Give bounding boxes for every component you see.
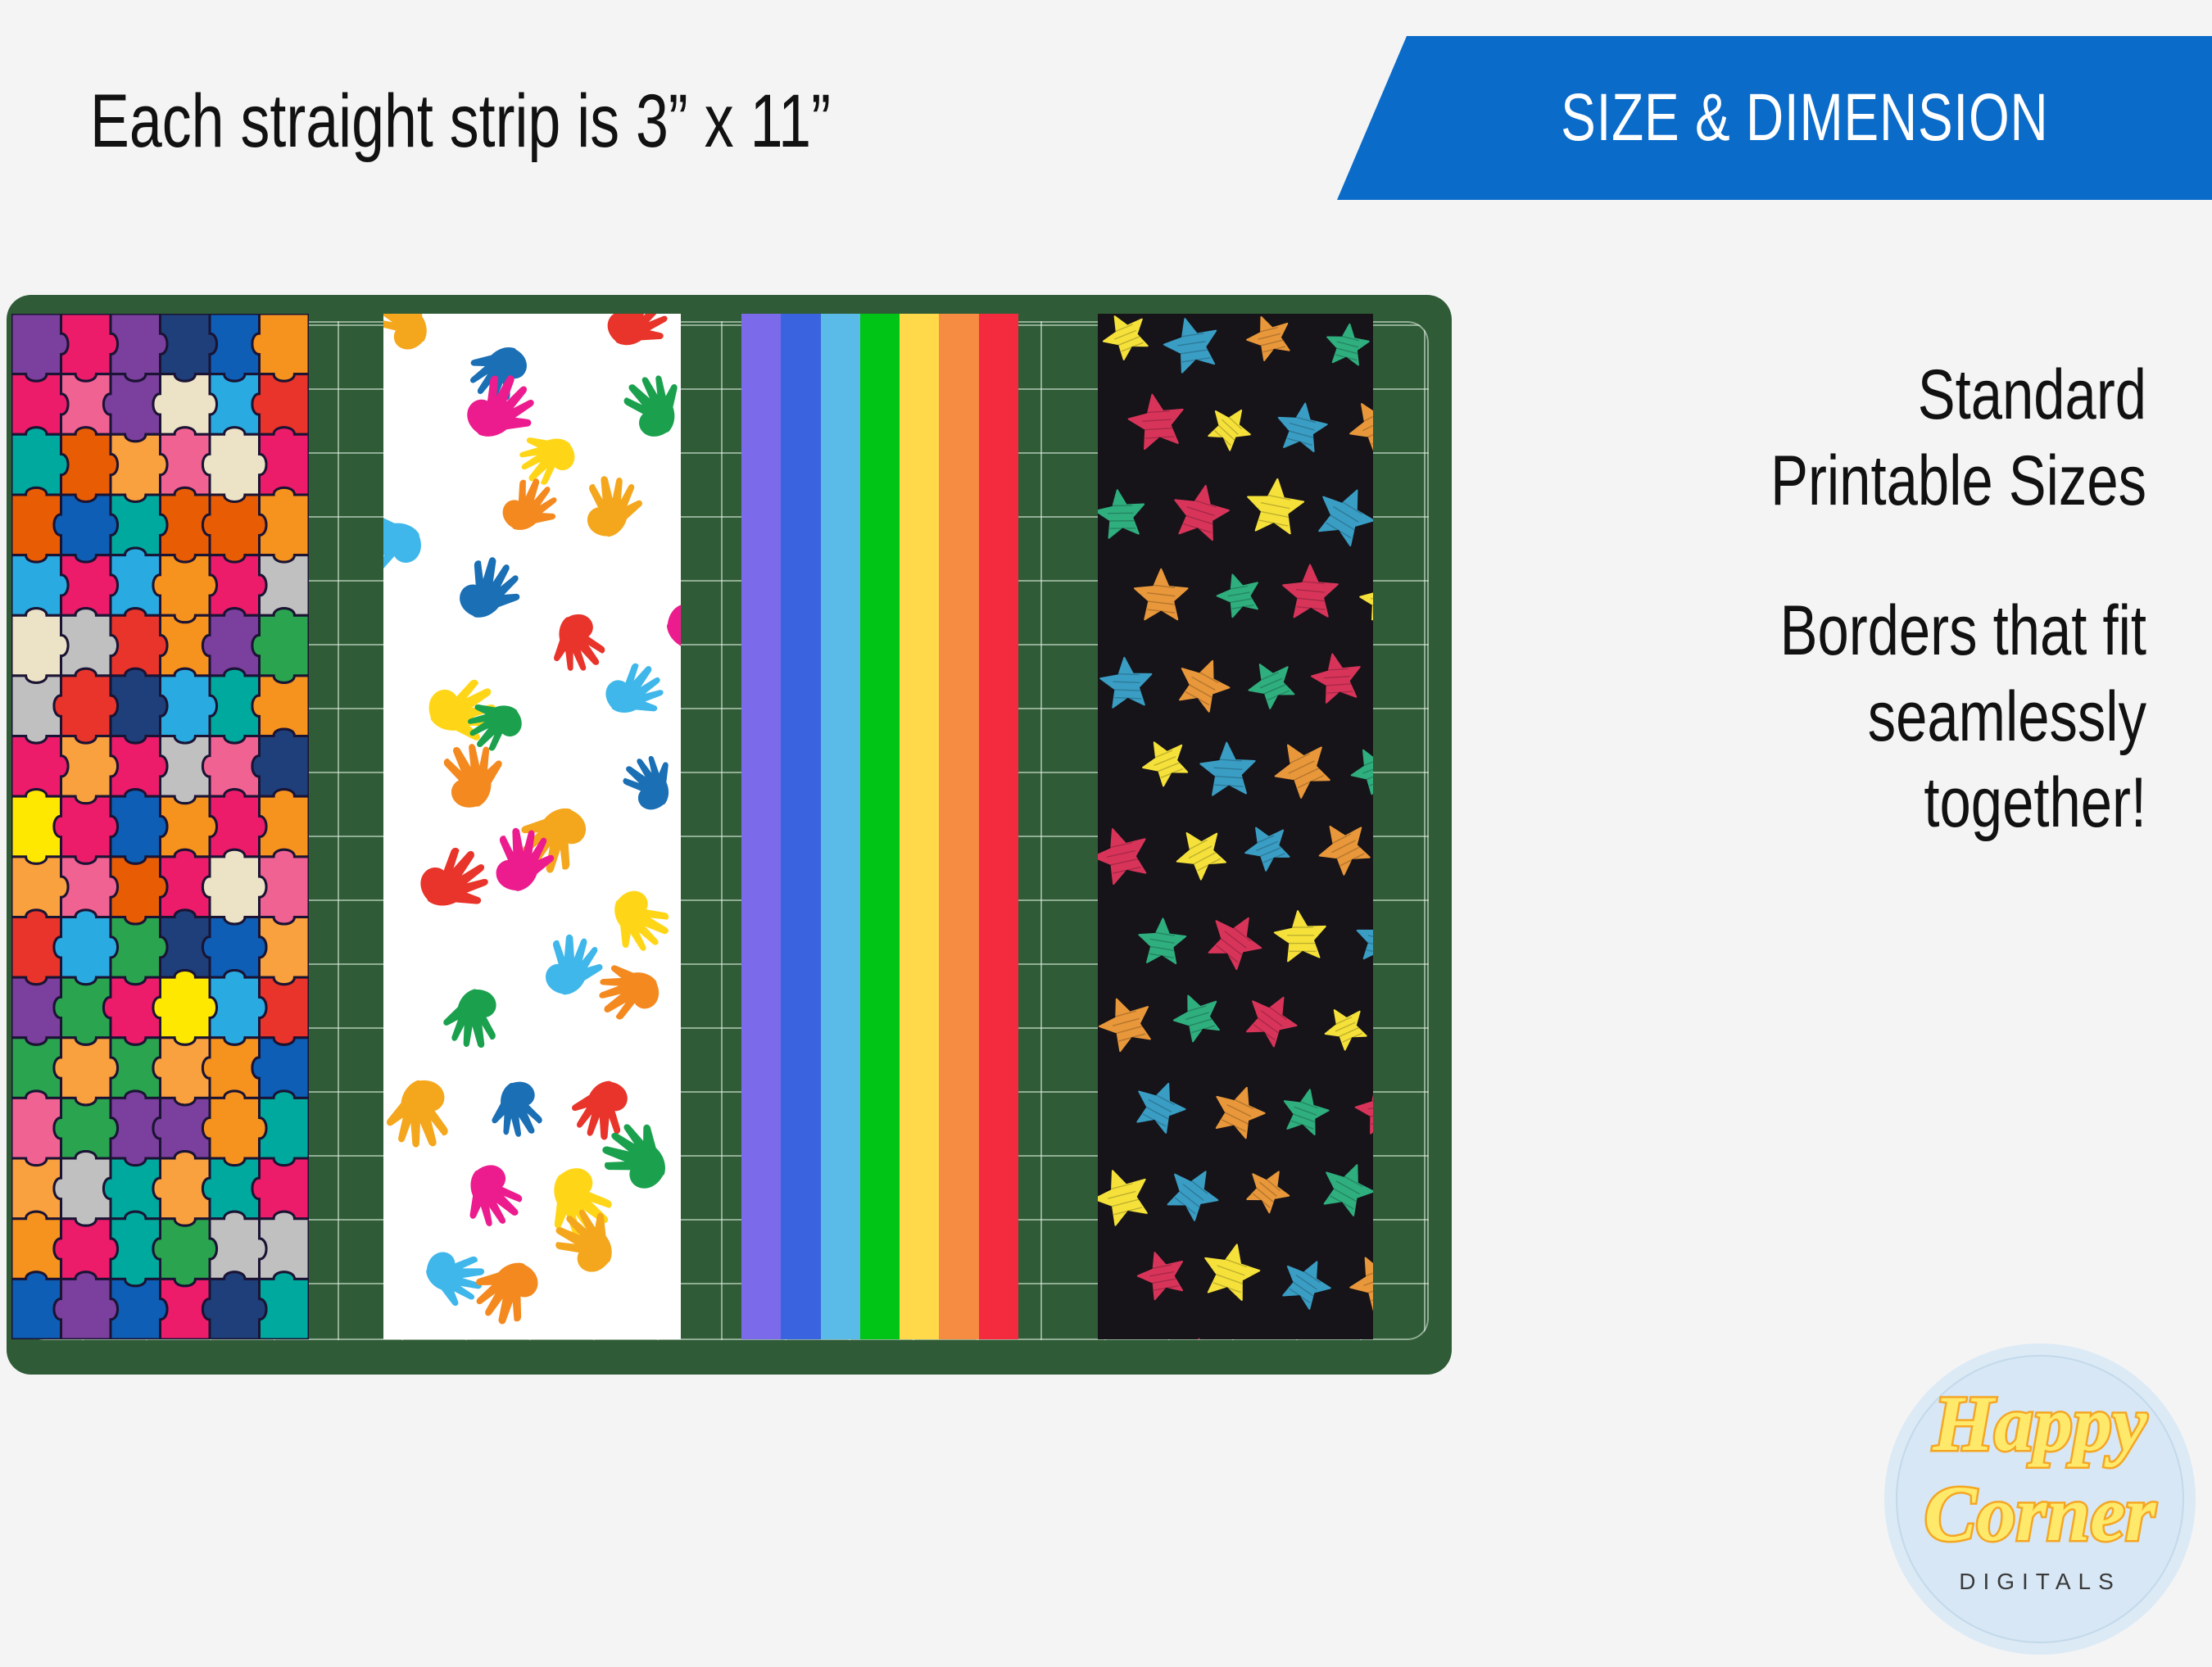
puzzle-piece xyxy=(153,1219,217,1286)
puzzle-piece xyxy=(111,434,167,501)
puzzle-piece xyxy=(252,729,309,796)
rainbow-band xyxy=(741,314,781,1339)
puzzle-piece xyxy=(202,1091,266,1166)
puzzle-piece xyxy=(61,609,118,676)
puzzle-piece xyxy=(111,609,167,676)
handprint-pattern xyxy=(383,314,681,1339)
puzzle-piece xyxy=(103,1158,160,1219)
puzzle-piece xyxy=(61,736,118,804)
puzzle-piece xyxy=(111,1279,167,1339)
puzzle-piece xyxy=(11,374,68,435)
puzzle-piece xyxy=(210,555,266,616)
puzzle-piece xyxy=(260,428,310,495)
puzzle-piece xyxy=(11,428,68,495)
puzzle-piece xyxy=(252,314,309,381)
puzzle-piece xyxy=(54,796,118,863)
puzzle-piece-strip[interactable] xyxy=(11,314,309,1339)
rainbow-band xyxy=(781,314,820,1339)
puzzle-piece xyxy=(161,314,217,381)
handprint-strip[interactable] xyxy=(383,314,681,1339)
puzzle-piece xyxy=(202,428,266,502)
puzzle-piece xyxy=(11,736,68,797)
copy-line-1: Standard xyxy=(1583,352,2146,438)
puzzle-piece xyxy=(260,917,310,984)
handprint xyxy=(451,1157,533,1239)
puzzle-piece xyxy=(54,910,118,985)
handprint xyxy=(480,1075,552,1148)
puzzle-piece xyxy=(54,1272,118,1339)
puzzle-piece xyxy=(161,668,217,743)
puzzle-piece xyxy=(252,1158,309,1219)
puzzle-piece xyxy=(260,790,310,857)
handprint xyxy=(601,314,678,360)
puzzle-piece xyxy=(260,1212,310,1279)
handprint xyxy=(456,552,526,624)
puzzle-piece xyxy=(260,849,310,924)
rainbow-band xyxy=(821,314,860,1339)
handprint xyxy=(545,934,603,995)
logo-script-corner: Corner xyxy=(1924,1470,2157,1557)
puzzle-piece xyxy=(210,971,266,1045)
puzzle-piece xyxy=(61,555,118,616)
puzzle-piece xyxy=(153,1151,210,1225)
puzzle-piece xyxy=(11,314,68,381)
puzzle-piece xyxy=(260,977,310,1044)
handprint xyxy=(613,362,681,445)
handprint xyxy=(586,950,667,1031)
puzzle-piece xyxy=(161,796,217,857)
copy-line-2: Printable Sizes xyxy=(1583,438,2146,524)
puzzle-piece xyxy=(210,790,266,857)
puzzle-piece xyxy=(111,917,167,984)
puzzle-piece xyxy=(54,1219,118,1280)
puzzle-piece xyxy=(252,676,309,736)
puzzle-piece xyxy=(260,1272,310,1339)
puzzle-piece xyxy=(11,609,68,683)
rainbow-band xyxy=(860,314,900,1339)
happy-corner-digitals-logo: Happy Corner DIGITALS xyxy=(1876,1339,2204,1667)
handprint xyxy=(538,606,615,684)
handprint xyxy=(498,472,565,541)
rainbow-band xyxy=(939,314,978,1339)
puzzle-piece xyxy=(61,857,118,917)
handprint xyxy=(599,653,675,730)
handprint xyxy=(665,600,681,669)
puzzle-piece xyxy=(202,1272,266,1339)
puzzle-piece xyxy=(153,374,217,435)
puzzle-piece xyxy=(111,790,167,864)
puzzle-pattern xyxy=(11,314,309,1339)
star-strip[interactable] xyxy=(1098,314,1373,1339)
handprint xyxy=(437,985,505,1055)
puzzle-piece xyxy=(111,668,167,743)
puzzle-piece xyxy=(153,1098,210,1158)
rainbow-stripe-strip[interactable] xyxy=(741,314,1018,1339)
puzzle-piece xyxy=(111,857,167,924)
handprint xyxy=(579,470,647,541)
puzzle-piece xyxy=(54,977,111,1044)
handprint xyxy=(383,1073,460,1158)
logo-subtitle: DIGITALS xyxy=(1959,1569,2121,1594)
marketing-copy: Standard Printable Sizes Borders that fi… xyxy=(1583,352,2146,846)
puzzle-piece xyxy=(252,1038,309,1098)
puzzle-piece xyxy=(202,1038,259,1098)
puzzle-piece xyxy=(111,495,167,555)
handprint xyxy=(412,836,502,926)
copy-line-5: together! xyxy=(1583,760,2146,846)
copy-line-4: seamlessly xyxy=(1583,674,2146,760)
banner-label: SIZE & DIMENSION xyxy=(1419,36,2115,200)
rainbow-band xyxy=(900,314,939,1339)
handprint xyxy=(614,745,681,817)
handprint xyxy=(468,1253,542,1330)
puzzle-piece xyxy=(11,555,68,616)
puzzle-piece xyxy=(202,917,266,977)
puzzle-piece xyxy=(202,736,259,797)
puzzle-piece xyxy=(54,1098,118,1158)
puzzle-piece xyxy=(61,428,118,502)
logo-script-happy: Happy xyxy=(1932,1379,2147,1467)
puzzle-piece xyxy=(252,609,309,683)
puzzle-piece xyxy=(260,555,310,616)
puzzle-piece xyxy=(111,314,167,381)
puzzle-piece xyxy=(11,857,68,917)
handprint xyxy=(508,420,582,495)
puzzle-piece xyxy=(61,314,118,381)
handprint xyxy=(383,314,442,356)
puzzle-piece xyxy=(153,1038,210,1105)
handprint xyxy=(600,885,678,962)
puzzle-piece xyxy=(111,736,167,797)
puzzle-piece xyxy=(260,1091,310,1166)
puzzle-piece xyxy=(54,1151,111,1225)
puzzle-piece xyxy=(202,495,266,562)
puzzle-piece xyxy=(153,555,217,623)
puzzle-piece xyxy=(153,971,217,1045)
puzzle-piece xyxy=(260,487,310,562)
handprint xyxy=(571,1080,628,1140)
puzzle-piece xyxy=(202,849,266,924)
copy-spacer xyxy=(1583,524,2146,588)
puzzle-piece xyxy=(54,495,118,562)
copy-line-3: Borders that fit xyxy=(1583,588,2146,674)
rainbow-band xyxy=(979,314,1018,1339)
star-pattern xyxy=(1098,314,1373,1339)
puzzle-piece xyxy=(252,374,309,435)
handprint xyxy=(433,732,515,816)
size-and-dimension-banner: SIZE & DIMENSION xyxy=(1321,36,2212,200)
puzzle-piece xyxy=(54,668,118,743)
handprint xyxy=(383,499,429,585)
page-title: Each straight strip is 3” x 11” xyxy=(90,79,831,165)
puzzle-piece xyxy=(54,1038,118,1105)
puzzle-piece xyxy=(210,1212,266,1279)
puzzle-piece xyxy=(103,977,160,1044)
puzzle-piece xyxy=(202,1158,259,1219)
puzzle-piece xyxy=(202,609,259,676)
puzzle-piece xyxy=(103,374,160,442)
